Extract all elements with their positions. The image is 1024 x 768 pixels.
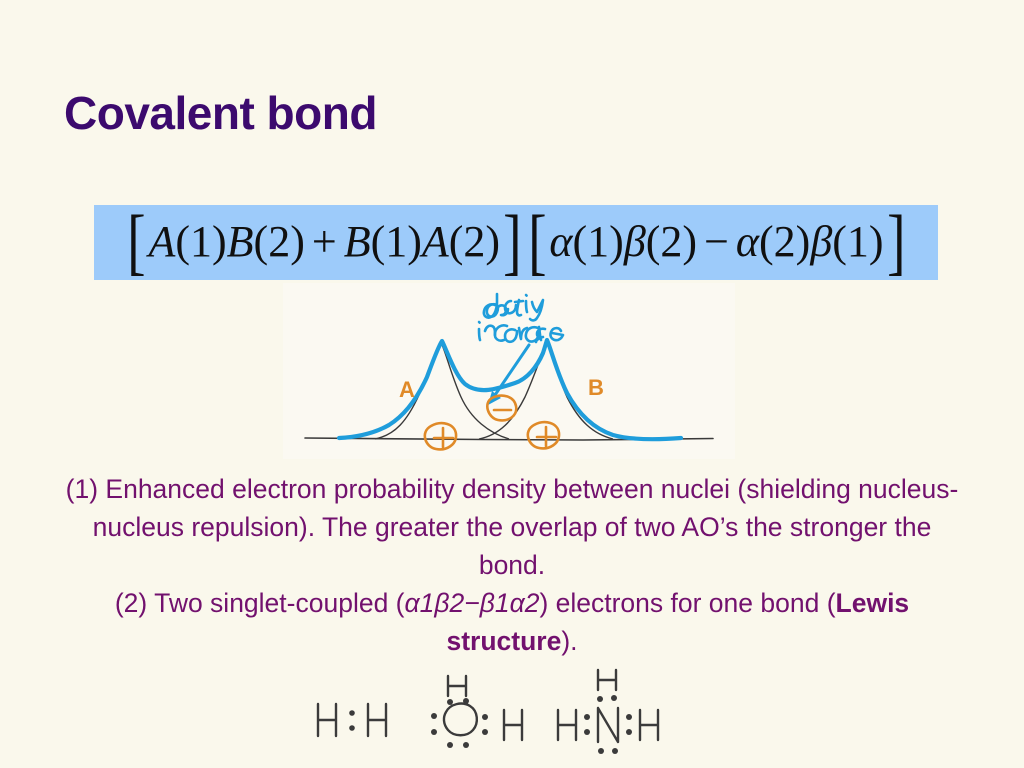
electron-symbol [487, 396, 516, 421]
body-item-1: (1) Enhanced electron probability densit… [62, 470, 962, 584]
plus-operator: + [305, 220, 344, 264]
orbital-b-1: B [344, 220, 371, 264]
orbital-a-2: A [422, 220, 449, 264]
spin-index-3: (2) [759, 220, 810, 264]
body-item-2-before: Two singlet-coupled ( [154, 588, 404, 618]
minus-operator: − [697, 220, 736, 264]
slide-canvas: Covalent bond [ A(1)B(2) + B(1)A(2) ][ α… [0, 0, 1024, 768]
molecular-density-curve [339, 340, 681, 439]
orbital-label-b: B [588, 375, 604, 400]
nucleus-symbol-a [425, 423, 456, 449]
body-item-2-middle: ) electrons for one bond ( [539, 588, 835, 618]
electron-density-sketch: A B [283, 283, 735, 459]
body-item-2-prefix: (2) [115, 588, 147, 618]
bracket-open-spatial: [ [127, 216, 145, 269]
bracket-open-spin: [ [528, 216, 546, 269]
electron-index-1: (1) [175, 220, 226, 264]
spin-index-1: (1) [573, 220, 624, 264]
beta-spin-1: β [810, 220, 832, 264]
hydrogen-bond-dot-top [349, 710, 355, 716]
alpha-spin-2: α [736, 220, 759, 264]
equation-highlight-band: [ A(1)B(2) + B(1)A(2) ][ α(1)β(2) − α(2)… [94, 205, 938, 280]
annotation-arrow [495, 345, 529, 395]
lewis-structures-figure [300, 668, 724, 764]
lewis-structure-ammonia [558, 670, 658, 742]
nucleus-symbol-b [528, 422, 559, 448]
alpha-spin-1: α [549, 220, 572, 264]
orbital-b-2: B [227, 220, 254, 264]
body-item-1-prefix: (1) [66, 474, 98, 504]
lewis-structure-hydrogen [318, 704, 386, 736]
page-title: Covalent bond [64, 88, 377, 139]
electron-index-2: (2) [254, 220, 305, 264]
electron-index-3: (1) [371, 220, 422, 264]
bracket-close-spatial: ] [503, 216, 521, 269]
beta-spin-2: β [624, 220, 646, 264]
body-text-block: (1) Enhanced electron probability densit… [62, 470, 962, 660]
body-item-2: (2) Two singlet-coupled (α1β2−β1α2) elec… [62, 584, 962, 660]
electron-index-4: (2) [449, 220, 500, 264]
water-electron-dots [431, 698, 488, 748]
orbital-label-a: A [399, 377, 415, 402]
orbital-a-1: A [148, 220, 175, 264]
density-increase-annotation [479, 294, 563, 342]
spin-index-4: (1) [832, 220, 883, 264]
spin-formula: α1β2−β1α2 [405, 588, 540, 618]
spin-index-2: (2) [646, 220, 697, 264]
bracket-close-spin: ] [887, 216, 905, 269]
body-item-2-after: ). [561, 626, 577, 656]
body-item-1-text: Enhanced electron probability density be… [93, 474, 959, 580]
hydrogen-bond-dot-bottom [349, 725, 355, 731]
wavefunction-equation: [ A(1)B(2) + B(1)A(2) ][ α(1)β(2) − α(2)… [124, 216, 908, 269]
